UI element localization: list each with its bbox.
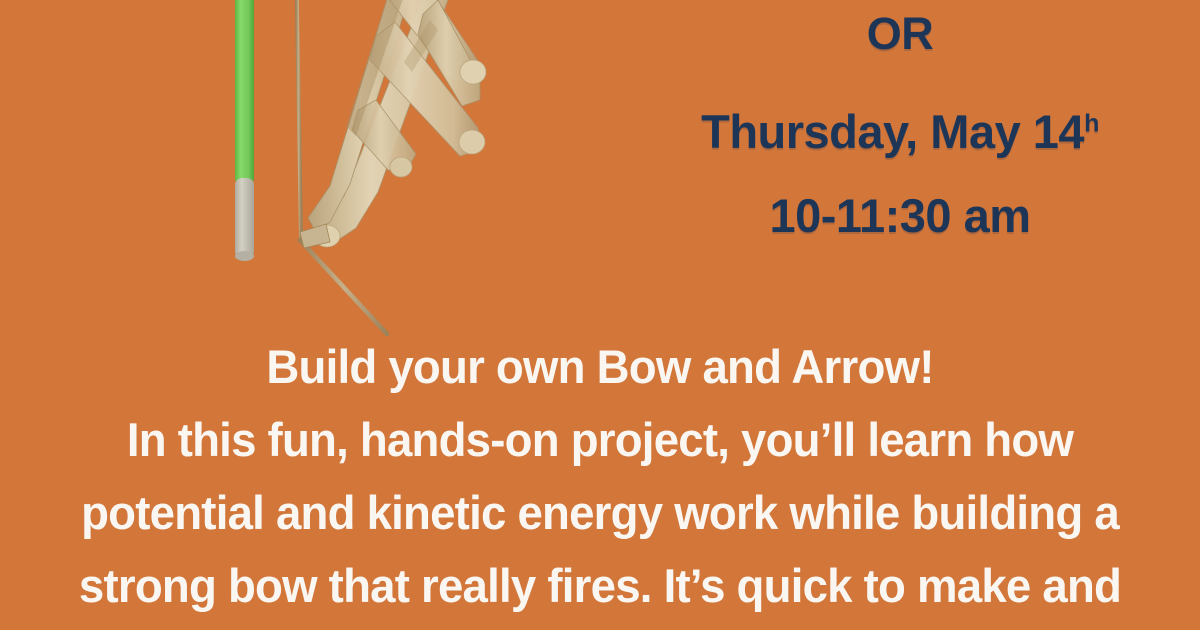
schedule-block: OR Thursday, May 14h 10-11:30 am bbox=[620, 0, 1180, 246]
body-line-headline: Build your own Bow and Arrow! bbox=[18, 330, 1182, 403]
arrow-shaft-group bbox=[235, 0, 254, 261]
session-time: 10-11:30 am bbox=[620, 186, 1180, 246]
session-date-main: Thursday, May 14 bbox=[701, 105, 1084, 158]
bow-limb-group bbox=[300, 0, 486, 248]
poster-canvas: OR Thursday, May 14h 10-11:30 am Build y… bbox=[0, 0, 1200, 630]
body-copy-block: Build your own Bow and Arrow! In this fu… bbox=[0, 330, 1200, 622]
session-date-ordinal-suffix: h bbox=[1084, 109, 1099, 137]
body-line-1: In this fun, hands-on project, you’ll le… bbox=[18, 403, 1182, 476]
body-line-2: potential and kinetic energy work while … bbox=[18, 476, 1182, 549]
body-line-3: strong bow that really fires. It’s quick… bbox=[18, 549, 1182, 622]
or-label: OR bbox=[620, 6, 1180, 62]
bow-and-arrow-image bbox=[180, 0, 510, 360]
session-date: Thursday, May 14h bbox=[620, 102, 1180, 162]
